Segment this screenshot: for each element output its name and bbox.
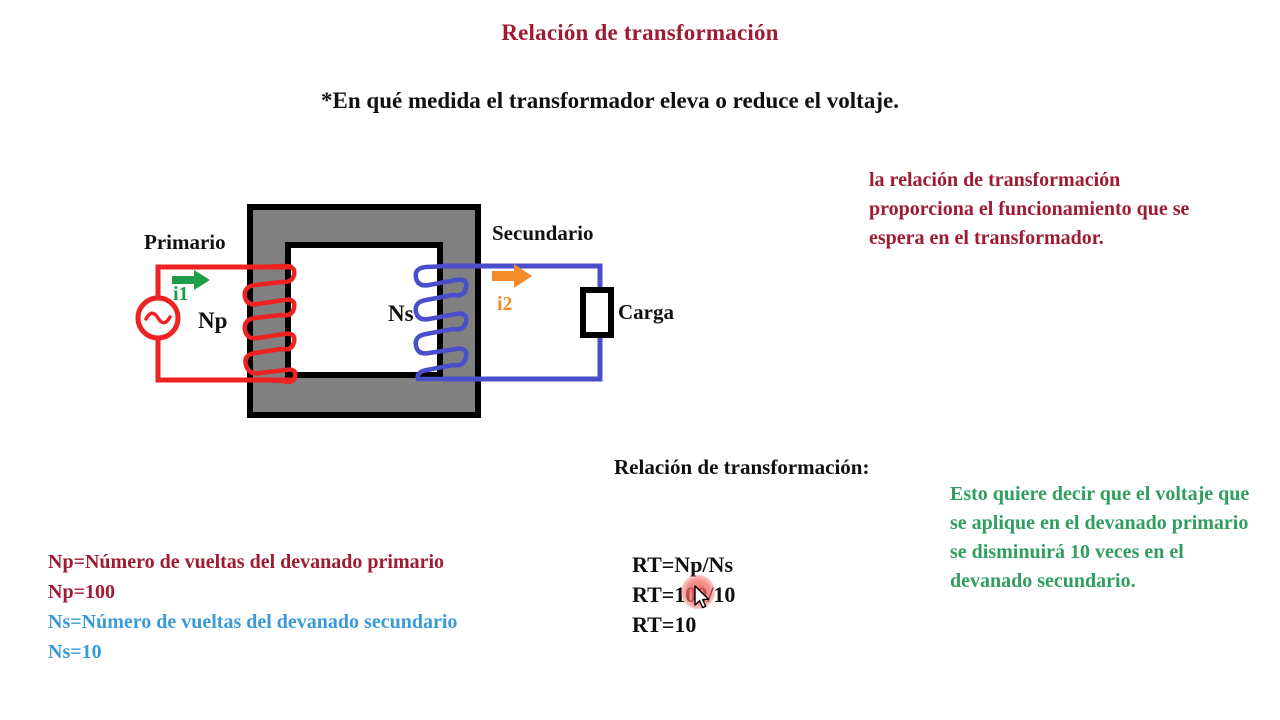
mouse-pointer-icon [694,585,712,611]
green-explanation-note: Esto quiere decir que el voltaje que se … [950,480,1250,596]
i1-current-label: i1 [173,283,189,306]
page-subtitle: *En qué medida el transformador eleva o … [0,88,1220,114]
secondary-side-label: Secundario [492,221,594,246]
definition-line: Np=Número de vueltas del devanado primar… [48,547,457,577]
definitions-list: Np=Número de vueltas del devanado primar… [48,547,457,667]
primary-side-label: Primario [144,230,226,255]
definition-line: Ns=Número de vueltas del devanado secund… [48,607,457,637]
np-label: Np [198,308,227,334]
formula-line: RT=Np/Ns [632,550,735,580]
ns-label: Ns [388,301,414,327]
slide-canvas: Relación de transformación *En qué medid… [0,0,1280,720]
load-label: Carga [618,300,674,325]
i2-current-label: i2 [497,293,513,316]
load-resistor [583,290,611,335]
page-title: Relación de transformación [0,20,1280,46]
definition-line: Np=100 [48,577,457,607]
formula-line: RT=10 [632,610,735,640]
definition-line: Ns=10 [48,637,457,667]
red-explanation-note: la relación de transformación proporcion… [869,166,1219,253]
ratio-heading: Relación de transformación: [614,455,869,480]
